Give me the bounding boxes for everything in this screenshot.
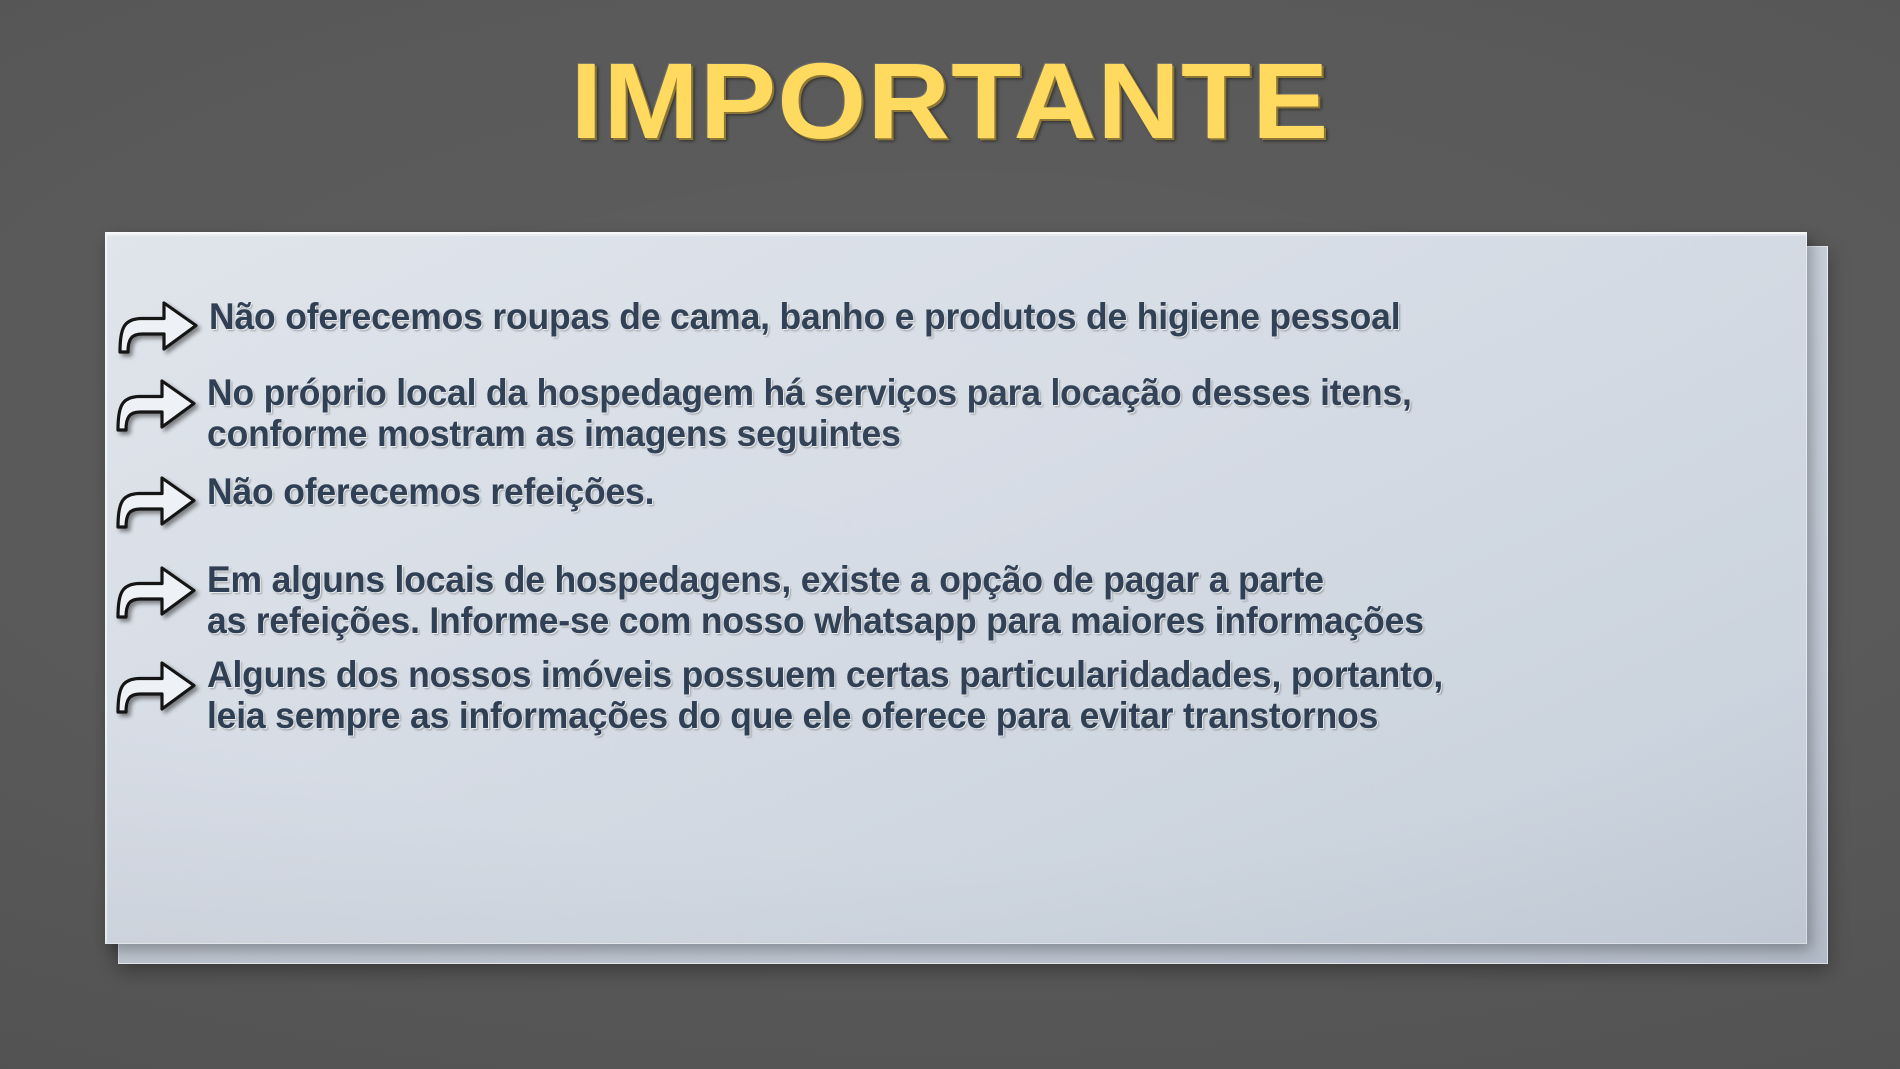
curved-right-arrow-icon [115,298,201,354]
list-item: No próprio local da hospedagem há serviç… [113,372,1778,455]
list-item-label: Em alguns locais de hospedagens, existe … [207,559,1424,642]
page-title: IMPORTANTE [571,46,1330,156]
curved-right-arrow-icon [113,473,199,529]
list-item: Não oferecemos roupas de cama, banho e p… [115,296,1778,354]
list-item-label: No próprio local da hospedagem há serviç… [207,372,1412,455]
curved-right-arrow-icon [113,658,199,714]
list-item: Em alguns locais de hospedagens, existe … [113,559,1778,642]
list-item-label: Não oferecemos refeições. [207,471,654,512]
curved-right-arrow-icon [113,563,199,619]
curved-right-arrow-icon [113,376,199,432]
list-item: Alguns dos nossos imóveis possuem certas… [113,654,1778,737]
list-item-label: Alguns dos nossos imóveis possuem certas… [207,654,1443,737]
list-item: Não oferecemos refeições. [113,471,1778,529]
content-panel: Não oferecemos roupas de cama, banho e p… [105,232,1807,944]
bullet-list: Não oferecemos roupas de cama, banho e p… [107,296,1778,737]
list-item-label: Não oferecemos roupas de cama, banho e p… [209,296,1400,337]
title-container: IMPORTANTE [0,46,1900,156]
